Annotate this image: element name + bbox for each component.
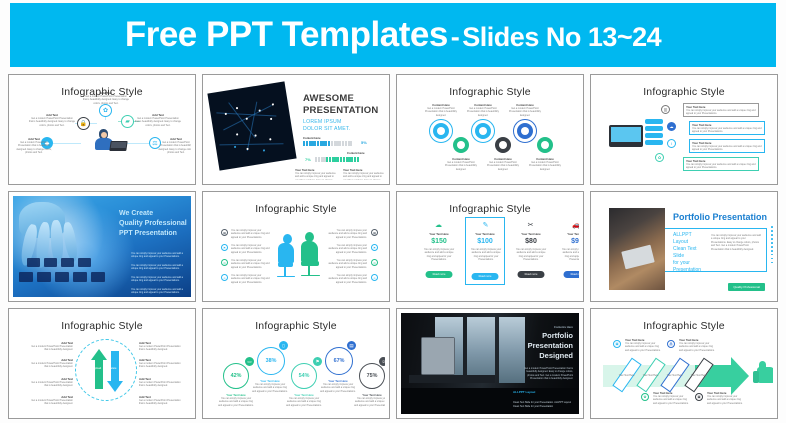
slide-4-content: Infographic Style ▥ ☁ I ✿ Your Text Here…	[595, 79, 773, 180]
slide-11-body: Get a modern PowerPoint Presentation tha…	[521, 367, 573, 381]
step-label-1: Your Text Here	[619, 374, 635, 377]
bullet-icon-r2: ⚑	[371, 244, 378, 251]
donut-chart-4: 67%	[325, 347, 353, 375]
slide-thumbnail-7[interactable]: Infographic Style ☁ Your Text Here $150 …	[396, 191, 584, 302]
pf-line-3: Clean Text	[673, 246, 697, 252]
slide-6-content: Infographic Style ▦ ⚑	[207, 196, 385, 297]
pen-icon: ✎	[480, 221, 491, 228]
node-info-icon: I	[667, 139, 676, 148]
slide-9-content: Infographic Style Upload Delete Add Text…	[13, 313, 191, 414]
slide-5-content: We Create Quality Professional PPT Prese…	[13, 196, 191, 297]
gear-icon-3	[517, 123, 533, 139]
slide-3-title: Infographic Style	[401, 86, 579, 98]
donut-value-2: 38%	[258, 348, 284, 374]
banner-title-sub: Slides No 13~24	[462, 22, 661, 52]
green-arrow-head	[731, 357, 749, 395]
slide-1-content: Infographic Style ✿ 🔒 ▰ ◆ ⚖ Add Text Get…	[13, 79, 191, 180]
bullet-icon-l3: ◎	[221, 259, 228, 266]
plan-heading-1: Your Text Here	[419, 232, 459, 236]
gear-icon-1	[433, 123, 449, 139]
arrow-down-label: Delete	[109, 367, 117, 370]
plan-heading-2: Your Text Here	[466, 232, 504, 236]
donut-chart-5: 75%	[359, 363, 385, 389]
slide-2-content: AWESOME PRESENTATION LOREM IPSUM DOLOR S…	[207, 79, 385, 180]
pricing-card-2[interactable]: ✎ Your Text Here $100 You can simply imp…	[465, 217, 505, 285]
slide-thumbnail-9[interactable]: Infographic Style Upload Delete Add Text…	[8, 308, 196, 419]
slide-12-content: Infographic Style Your Text Here Your Te…	[595, 313, 773, 414]
gear-body-5: Get a modern PowerPoint Presentation tha…	[483, 161, 523, 171]
slide-6-title: Infographic Style	[207, 203, 385, 215]
scissors-icon: ✂	[525, 221, 536, 228]
slide-11-title-3: Designed	[539, 351, 573, 360]
node-body-1: Get a modern PowerPoint Presentation tha…	[83, 95, 129, 105]
slide-12-title: Infographic Style	[595, 320, 773, 332]
bar-value-1: 5%	[361, 140, 367, 145]
briefcase-icon: ▤	[347, 341, 356, 350]
bullet-icon-r1: ▦	[371, 229, 378, 236]
plan-price-3: $80	[511, 238, 551, 245]
slides-grid: Infographic Style ✿ 🔒 ▰ ◆ ⚖ Add Text Get…	[8, 74, 778, 419]
slide-11-footer: Clean Text Slide for your Presentation. …	[513, 401, 575, 408]
text-box-body-3: You can simply impress your audience and…	[692, 145, 762, 152]
slide-10-title: Infographic Style	[207, 320, 385, 332]
slide-8-body: You can simply impress your audience and…	[711, 234, 761, 251]
step-label-3: Your Text Here	[667, 374, 683, 377]
text-box-body-4: You can simply impress your audience and…	[686, 163, 756, 170]
text-box-body-2: You can simply impress your audience and…	[692, 127, 762, 134]
plan-button-3[interactable]: Read more	[518, 271, 545, 278]
plan-heading-4: Your Text Here	[557, 232, 579, 236]
slide-7-title: Infographic Style	[401, 203, 579, 215]
bullet-icon-l4: ☺	[221, 274, 228, 281]
slide-thumbnail-11[interactable]: Contents Here Portfolio Presentation Des…	[396, 308, 584, 419]
arrow-item-body-4: Get a modern PowerPoint Presentation tha…	[27, 399, 73, 406]
slide-thumbnail-5[interactable]: We Create Quality Professional PPT Prese…	[8, 191, 196, 302]
node-body-3: Get a modern PowerPoint Presentation tha…	[135, 117, 181, 127]
page-header-banner: Free PPT Templates-Slides No 13~24	[10, 3, 776, 67]
page-root: Free PPT Templates-Slides No 13~24 Infog…	[0, 0, 786, 423]
step-label-4: Your Text Here	[691, 374, 707, 377]
slide-thumbnail-6[interactable]: Infographic Style ▦ ⚑	[202, 191, 390, 302]
left-item-body-3: You can simply impress your audience and…	[231, 259, 271, 269]
tablet-icon: ▯	[279, 341, 288, 350]
cloud-icon: ☁	[433, 221, 444, 228]
pricing-card-3[interactable]: ✂ Your Text Here $80 You can simply impr…	[511, 220, 551, 282]
slide-4-title: Infographic Style	[595, 86, 773, 98]
callout-body-2: You can simply impress your audience and…	[679, 342, 715, 352]
node-lock-icon: 🔒	[77, 117, 90, 130]
gear-body-3: Get a modern PowerPoint Presentation tha…	[505, 107, 545, 117]
arrow-item-body-1: Get a modern PowerPoint Presentation tha…	[27, 345, 73, 352]
slide-8-content: Portfolio Presentation ALLPPT Layout Cle…	[595, 196, 773, 297]
banner-title-main: Free PPT Templates	[125, 15, 448, 54]
plan-button-4[interactable]: Read more	[564, 271, 580, 278]
plan-button-1[interactable]: Read more	[426, 271, 453, 278]
callout-body-1: You can simply impress your audience and…	[625, 342, 661, 352]
left-item-body-1: You can simply impress your audience and…	[231, 229, 271, 239]
plan-body-1: You can simply impress your audience and…	[423, 248, 455, 262]
donut-body-3: You can simply impress your audience and…	[285, 397, 323, 407]
callout-icon-1: ▣	[613, 340, 621, 348]
node-cloud-icon: ☁	[667, 122, 676, 131]
gear-body-4: Get a modern PowerPoint Presentation tha…	[441, 161, 481, 171]
arrow-down-icon	[107, 351, 123, 393]
gear-body-2: Get a modern PowerPoint Presentation tha…	[463, 107, 503, 117]
node-body-2: Get a modern PowerPoint Presentation tha…	[29, 117, 75, 127]
progress-bar-2	[315, 157, 359, 162]
user-icon: ☺	[379, 357, 385, 366]
footnote-body-1: You can simply impress your audience and…	[295, 172, 337, 180]
slide-11-title-2: Presentation	[528, 341, 573, 350]
footnote-body-2: You can simply impress your audience and…	[343, 172, 385, 180]
slide-11-eyebrow: Contents Here	[554, 325, 573, 329]
donut-value-3: 54%	[292, 364, 316, 388]
callout-icon-2: ⁂	[667, 340, 675, 348]
server-stack-icon	[645, 119, 663, 147]
slide-11-content: Contents Here Portfolio Presentation Des…	[401, 313, 579, 414]
plan-button-2[interactable]: Read more	[472, 273, 499, 280]
slide-5-bullet-4: You can simply impress your audience and…	[131, 288, 185, 295]
node-megaphone-icon: ▰	[121, 115, 134, 128]
callout-body-4: You can simply impress your audience and…	[707, 395, 743, 405]
donut-body-1: You can simply impress your audience and…	[217, 397, 255, 407]
banner-title-dash: -	[451, 22, 460, 52]
donut-value-4: 67%	[326, 348, 352, 374]
arrow-item-body-5: Get a modern PowerPoint Presentation tha…	[139, 345, 185, 352]
slide-5-heading-3: PPT Presentation	[119, 230, 177, 237]
slide-10-content: Infographic Style 42% ▭ 38% ▯ 54% ⚑ 67% …	[207, 313, 385, 414]
person-silhouette-green	[299, 232, 325, 282]
node-body-5: Get a modern PowerPoint Presentation tha…	[156, 141, 191, 155]
plan-price-1: $150	[419, 238, 459, 245]
node-chart-icon: ▥	[661, 105, 670, 114]
slide-7-content: Infographic Style ☁ Your Text Here $150 …	[401, 196, 579, 297]
slide-5-bullet-2: You can simply impress your audience and…	[131, 264, 185, 271]
slide-9-title: Infographic Style	[13, 320, 191, 332]
person-with-laptop-illustration	[93, 129, 133, 155]
donut-body-5: You can simply impress your audience and…	[353, 397, 385, 407]
gear-icon-6	[537, 137, 553, 153]
arrow-item-body-7: Get a modern PowerPoint Presentation tha…	[139, 381, 185, 388]
arrow-up-label: Upload	[93, 367, 101, 370]
pricing-card-1[interactable]: ☁ Your Text Here $150 You can simply imp…	[419, 220, 459, 282]
slide-2-subtitle-line2: DOLOR SIT AMET.	[303, 126, 350, 133]
laptop-screen	[611, 127, 641, 142]
world-map-graphic	[207, 81, 296, 170]
donut-body-2: You can simply impress your audience and…	[251, 383, 289, 393]
gear-body-1: Get a modern PowerPoint Presentation tha…	[421, 107, 461, 117]
slide-5-heading-2: Quality Professional	[119, 220, 187, 227]
bar-label-2: Content Here	[347, 151, 365, 155]
callout-icon-3: ✿	[641, 393, 649, 401]
pf-line-5: for your	[673, 260, 690, 266]
banner-title: Free PPT Templates-Slides No 13~24	[125, 15, 661, 55]
slide-thumbnail-12[interactable]: Infographic Style Your Text Here Your Te…	[590, 308, 778, 419]
gear-body-6: Get a modern PowerPoint Presentation tha…	[525, 161, 565, 171]
plan-body-3: You can simply impress your audience and…	[515, 248, 547, 262]
slide-thumbnail-2[interactable]: AWESOME PRESENTATION LOREM IPSUM DOLOR S…	[202, 74, 390, 185]
arrow-item-body-6: Get a modern PowerPoint Presentation tha…	[139, 362, 185, 369]
pf-line-1: ALLPPT	[673, 232, 692, 238]
gear-icon-4	[453, 137, 469, 153]
plan-body-4: You can simply impress your audience and…	[561, 248, 579, 262]
text-box-body-1: You can simply impress your audience and…	[686, 109, 756, 116]
quality-tag: Quality Professional	[728, 283, 765, 291]
slide-5-heading-1: We Create	[119, 210, 153, 217]
slide-thumbnail-1[interactable]: Infographic Style ✿ 🔒 ▰ ◆ ⚖ Add Text Get…	[8, 74, 196, 185]
callout-icon-4: ▣	[695, 393, 703, 401]
pf-line-2: Layout	[673, 239, 688, 245]
slide-11-highlight: ALLPPT Layout	[513, 390, 535, 394]
slide-thumbnail-4[interactable]: Infographic Style ▥ ☁ I ✿ Your Text Here…	[590, 74, 778, 185]
car-icon: 🚗	[571, 221, 579, 228]
plan-heading-3: Your Text Here	[511, 232, 551, 236]
callout-body-3: You can simply impress your audience and…	[653, 395, 689, 405]
plan-body-2: You can simply impress your audience and…	[470, 248, 502, 262]
right-item-body-1: You can simply impress your audience and…	[327, 229, 367, 239]
left-item-body-4: You can simply impress your audience and…	[231, 274, 271, 284]
right-item-body-3: You can simply impress your audience and…	[327, 259, 367, 269]
plan-price-2: $100	[466, 238, 504, 245]
node-gear-icon: ✿	[99, 104, 112, 117]
slide-2-heading-line2: PRESENTATION	[303, 105, 378, 117]
pf-line-6: Presentation	[673, 267, 701, 273]
pf-line-4: Slide	[673, 253, 684, 259]
right-item-body-4: You can simply impress your audience and…	[327, 274, 367, 284]
right-item-body-2: You can simply impress your audience and…	[327, 244, 367, 254]
slide-2-heading-line1: AWESOME	[303, 93, 354, 105]
progress-bar-1	[303, 141, 352, 146]
person-silhouette-blue	[275, 234, 299, 282]
bullet-icon-l2: ⚑	[221, 244, 228, 251]
slide-thumbnail-8[interactable]: Portfolio Presentation ALLPPT Layout Cle…	[590, 191, 778, 302]
slide-8-title: Portfolio Presentation	[673, 212, 767, 222]
slide-thumbnail-3[interactable]: Infographic Style Content Here Get a mod…	[396, 74, 584, 185]
bar-label-1: Content Here	[303, 136, 321, 140]
donut-chart-3: 54%	[291, 363, 317, 389]
bullet-icon-l1: ▦	[221, 229, 228, 236]
thumbs-up-icon	[753, 361, 773, 385]
flag-icon: ⚑	[313, 357, 322, 366]
slide-3-content: Infographic Style Content Here Get a mod…	[401, 79, 579, 180]
donut-value-1: 42%	[224, 364, 248, 388]
bar-value-2: 7%	[305, 157, 311, 162]
slide-thumbnail-10[interactable]: Infographic Style 42% ▭ 38% ▯ 54% ⚑ 67% …	[202, 308, 390, 419]
slide-2-subtitle-line1: LOREM IPSUM	[303, 119, 342, 126]
donut-body-4: You can simply impress your audience and…	[319, 383, 357, 393]
arrow-item-body-8: Get a modern PowerPoint Presentation tha…	[139, 399, 185, 406]
bullet-icon-r4: ☺	[371, 274, 378, 281]
arrow-item-body-2: Get a modern PowerPoint Presentation tha…	[27, 362, 73, 369]
slide-11-title-1: Portfolio	[542, 331, 573, 340]
donut-value-5: 75%	[360, 364, 384, 388]
arrow-item-body-3: Get a modern PowerPoint Presentation tha…	[27, 381, 73, 388]
plan-price-4: $99	[557, 238, 579, 245]
dot-column	[771, 226, 773, 263]
node-gear-icon-4: ✿	[655, 153, 664, 162]
monitor-icon: ▭	[245, 357, 254, 366]
gear-icon-5	[495, 137, 511, 153]
node-body-4: Get a modern PowerPoint Presentation tha…	[14, 141, 54, 155]
donut-chart-2: 38%	[257, 347, 285, 375]
office-desk-photo	[401, 313, 579, 414]
donut-chart-1: 42%	[223, 363, 249, 389]
left-item-body-2: You can simply impress your audience and…	[231, 244, 271, 254]
gear-icon-2	[475, 123, 491, 139]
step-label-2: Your Text Here	[643, 374, 659, 377]
pricing-card-4[interactable]: 🚗 Your Text Here $99 You can simply impr…	[557, 220, 579, 282]
bullet-icon-r3: ◎	[371, 259, 378, 266]
slide-5-bullet-3: You can simply impress your audience and…	[131, 276, 185, 283]
slide-5-bullet-1: You can simply impress your audience and…	[131, 252, 185, 259]
